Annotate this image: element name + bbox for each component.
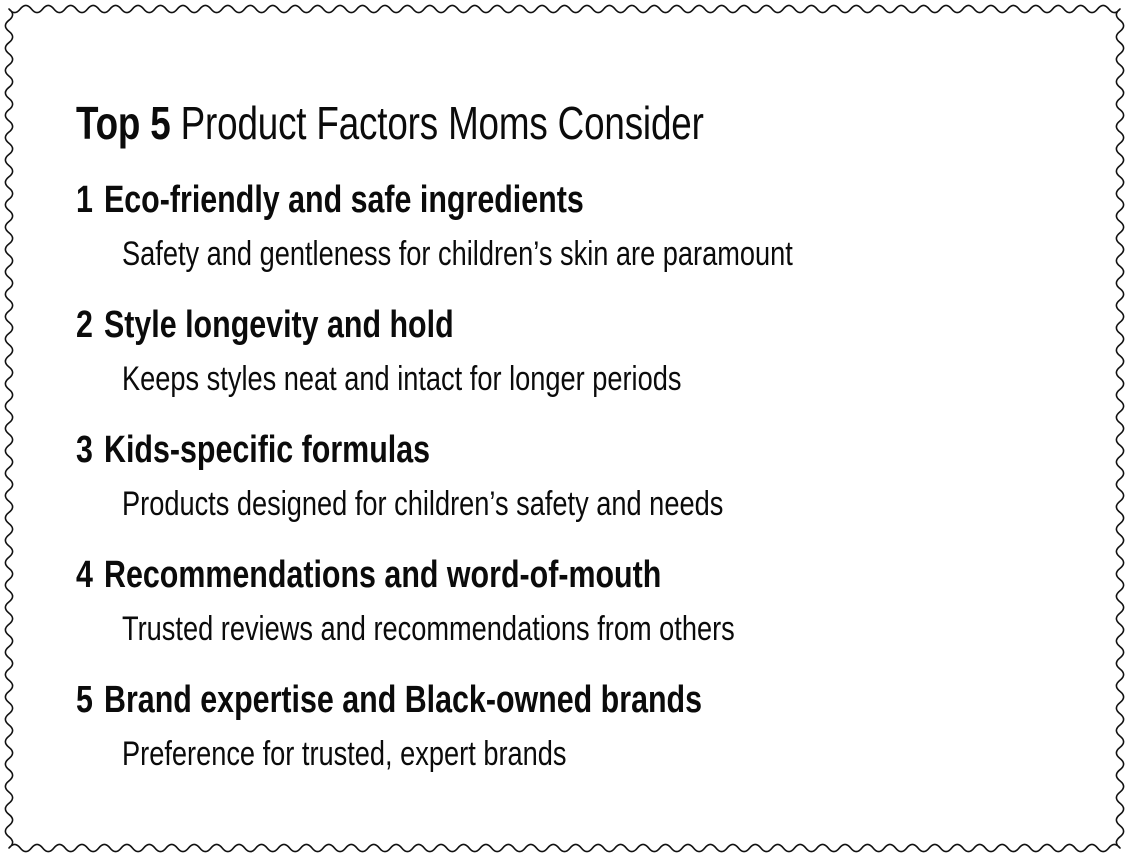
- list-item-label: Brand expertise and Black-owned brands: [104, 679, 702, 721]
- list-item-heading: 1Eco-friendly and safe ingredients: [76, 179, 584, 221]
- page-title-strong: Top 5: [76, 97, 171, 149]
- list-item-heading: 5Brand expertise and Black-owned brands: [76, 679, 702, 721]
- list-item-number: 4: [76, 554, 97, 596]
- list-item-description: Keeps styles neat and intact for longer …: [122, 360, 681, 398]
- list-item-description: Safety and gentleness for children’s ski…: [122, 235, 793, 273]
- list-item-number: 2: [76, 304, 97, 346]
- list-item-label: Eco-friendly and safe ingredients: [104, 179, 584, 221]
- list-item-label: Kids-specific formulas: [104, 429, 430, 471]
- page-title: Top 5 Product Factors Moms Consider: [76, 97, 704, 149]
- list-item-heading: 2Style longevity and hold: [76, 304, 454, 346]
- page-title-rest: Product Factors Moms Consider: [171, 97, 704, 149]
- list-item-number: 3: [76, 429, 97, 471]
- infographic-card: Top 5 Product Factors Moms Consider 1Eco…: [0, 0, 1129, 857]
- list-item-heading: 3Kids-specific formulas: [76, 429, 430, 471]
- list-item-description: Products designed for children’s safety …: [122, 485, 723, 523]
- list-item-label: Recommendations and word-of-mouth: [104, 554, 661, 596]
- card-content: Top 5 Product Factors Moms Consider 1Eco…: [76, 0, 1089, 857]
- list-item-description: Preference for trusted, expert brands: [122, 735, 567, 773]
- list-item-description: Trusted reviews and recommendations from…: [122, 610, 735, 648]
- list-item-heading: 4Recommendations and word-of-mouth: [76, 554, 661, 596]
- list-item-number: 5: [76, 679, 97, 721]
- list-item-number: 1: [76, 179, 97, 221]
- list-item-label: Style longevity and hold: [104, 304, 454, 346]
